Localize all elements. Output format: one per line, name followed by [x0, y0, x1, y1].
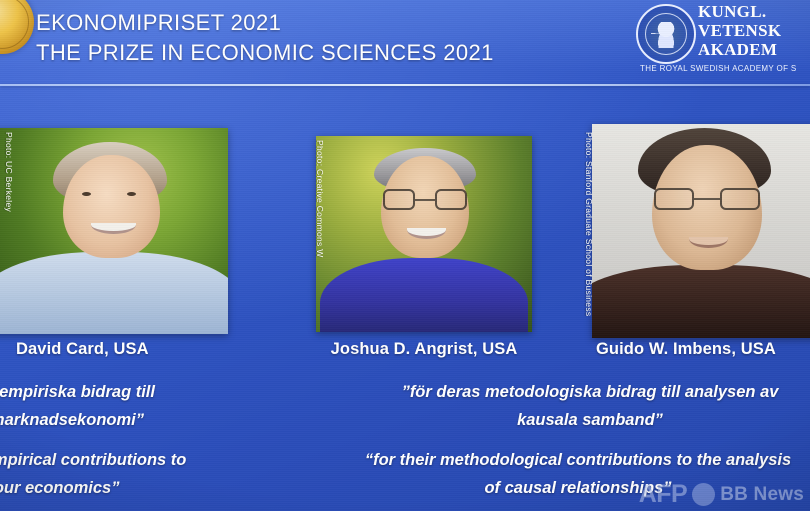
academy-word-line-2: VETENSK — [698, 21, 810, 40]
portrait-eye-right — [127, 192, 136, 196]
academy-word-line-3: AKADEM — [698, 40, 810, 59]
bbnews-wordmark: BB News — [720, 484, 804, 506]
afp-circle-icon — [692, 483, 715, 506]
afp-wordmark: AFP — [639, 482, 688, 507]
afp-bbnews-watermark: AFP BB News — [639, 482, 804, 507]
citation-swedish-left-line1: hans empiriska bidrag till — [0, 378, 155, 406]
laureates-row: David Card, USA Joshua D. Angrist, USA — [0, 92, 810, 372]
portrait-joshua-angrist — [316, 136, 532, 332]
laureate-angrist-joshua: Joshua D. Angrist, USA — [316, 92, 532, 372]
laureate-name: Joshua D. Angrist, USA — [316, 340, 532, 359]
glasses-bridge — [694, 198, 719, 200]
portrait-body — [592, 265, 810, 338]
laureate-name: David Card, USA — [0, 340, 228, 359]
photo-credit-guido-imbens: Photo: Stanford Graduate School of Busin… — [584, 132, 594, 316]
academy-wordmark: KUNGL. VETENSK AKADEM — [698, 2, 810, 59]
medal-rim — [0, 0, 29, 49]
citation-english-left: s empirical contributions to labour econ… — [0, 446, 186, 502]
screenshot-root: EKONOMIPRISET 2021 THE PRIZE IN ECONOMIC… — [0, 0, 810, 511]
glasses-lens-left — [654, 188, 694, 209]
portrait-frame — [316, 136, 532, 332]
laureate-card-david: David Card, USA — [0, 92, 228, 372]
glasses-bridge — [415, 199, 435, 201]
citation-english-left-line2: labour economics” — [0, 474, 186, 502]
citation-swedish-left: hans empiriska bidrag till betsmarknadse… — [0, 378, 155, 434]
portrait-glasses-icon — [654, 188, 760, 209]
title-english: THE PRIZE IN ECONOMIC SCIENCES 2021 — [36, 38, 494, 68]
glasses-lens-right — [435, 189, 467, 211]
portrait-glasses-icon — [383, 189, 467, 211]
photo-credit-david-card: Photo: UC Berkeley — [4, 132, 14, 212]
portrait-guido-imbens — [592, 124, 810, 338]
citation-english-left-line1: s empirical contributions to — [0, 446, 186, 474]
royal-swedish-academy-seal-icon — [636, 4, 696, 64]
laureate-imbens-guido: Guido W. Imbens, USA — [592, 92, 810, 372]
portrait-body — [320, 258, 527, 332]
glasses-lens-right — [720, 188, 760, 209]
seal-figure — [654, 22, 678, 48]
header-divider — [0, 84, 810, 86]
portrait-eye-left — [82, 192, 91, 196]
title-swedish: EKONOMIPRISET 2021 — [36, 8, 494, 38]
citation-swedish-right-line1: ”för deras metodologiska bidrag till ana… — [330, 378, 810, 406]
glasses-lens-left — [383, 189, 415, 211]
academy-subtitle: THE ROYAL SWEDISH ACADEMY OF S — [640, 64, 810, 73]
photo-credit-joshua-angrist: Photo: Creative Commons W — [315, 140, 325, 258]
citation-swedish-right: ”för deras metodologiska bidrag till ana… — [330, 378, 810, 434]
academy-word-line-1: KUNGL. — [698, 2, 810, 21]
portrait-frame — [592, 124, 810, 338]
academy-logo: KUNGL. VETENSK AKADEM THE ROYAL SWEDISH … — [636, 2, 810, 82]
citation-english-right-line1: “for their methodological contributions … — [318, 446, 810, 474]
laureate-name: Guido W. Imbens, USA — [592, 340, 810, 359]
title-block: EKONOMIPRISET 2021 THE PRIZE IN ECONOMIC… — [36, 8, 494, 68]
citation-swedish-right-line2: kausala samband” — [330, 406, 810, 434]
header-band: EKONOMIPRISET 2021 THE PRIZE IN ECONOMIC… — [0, 0, 810, 86]
portrait-body — [0, 252, 228, 334]
citation-swedish-left-line2: betsmarknadsekonomi” — [0, 406, 155, 434]
portrait-face — [63, 155, 160, 258]
portrait-frame — [0, 128, 228, 334]
portrait-david-card — [0, 128, 228, 334]
